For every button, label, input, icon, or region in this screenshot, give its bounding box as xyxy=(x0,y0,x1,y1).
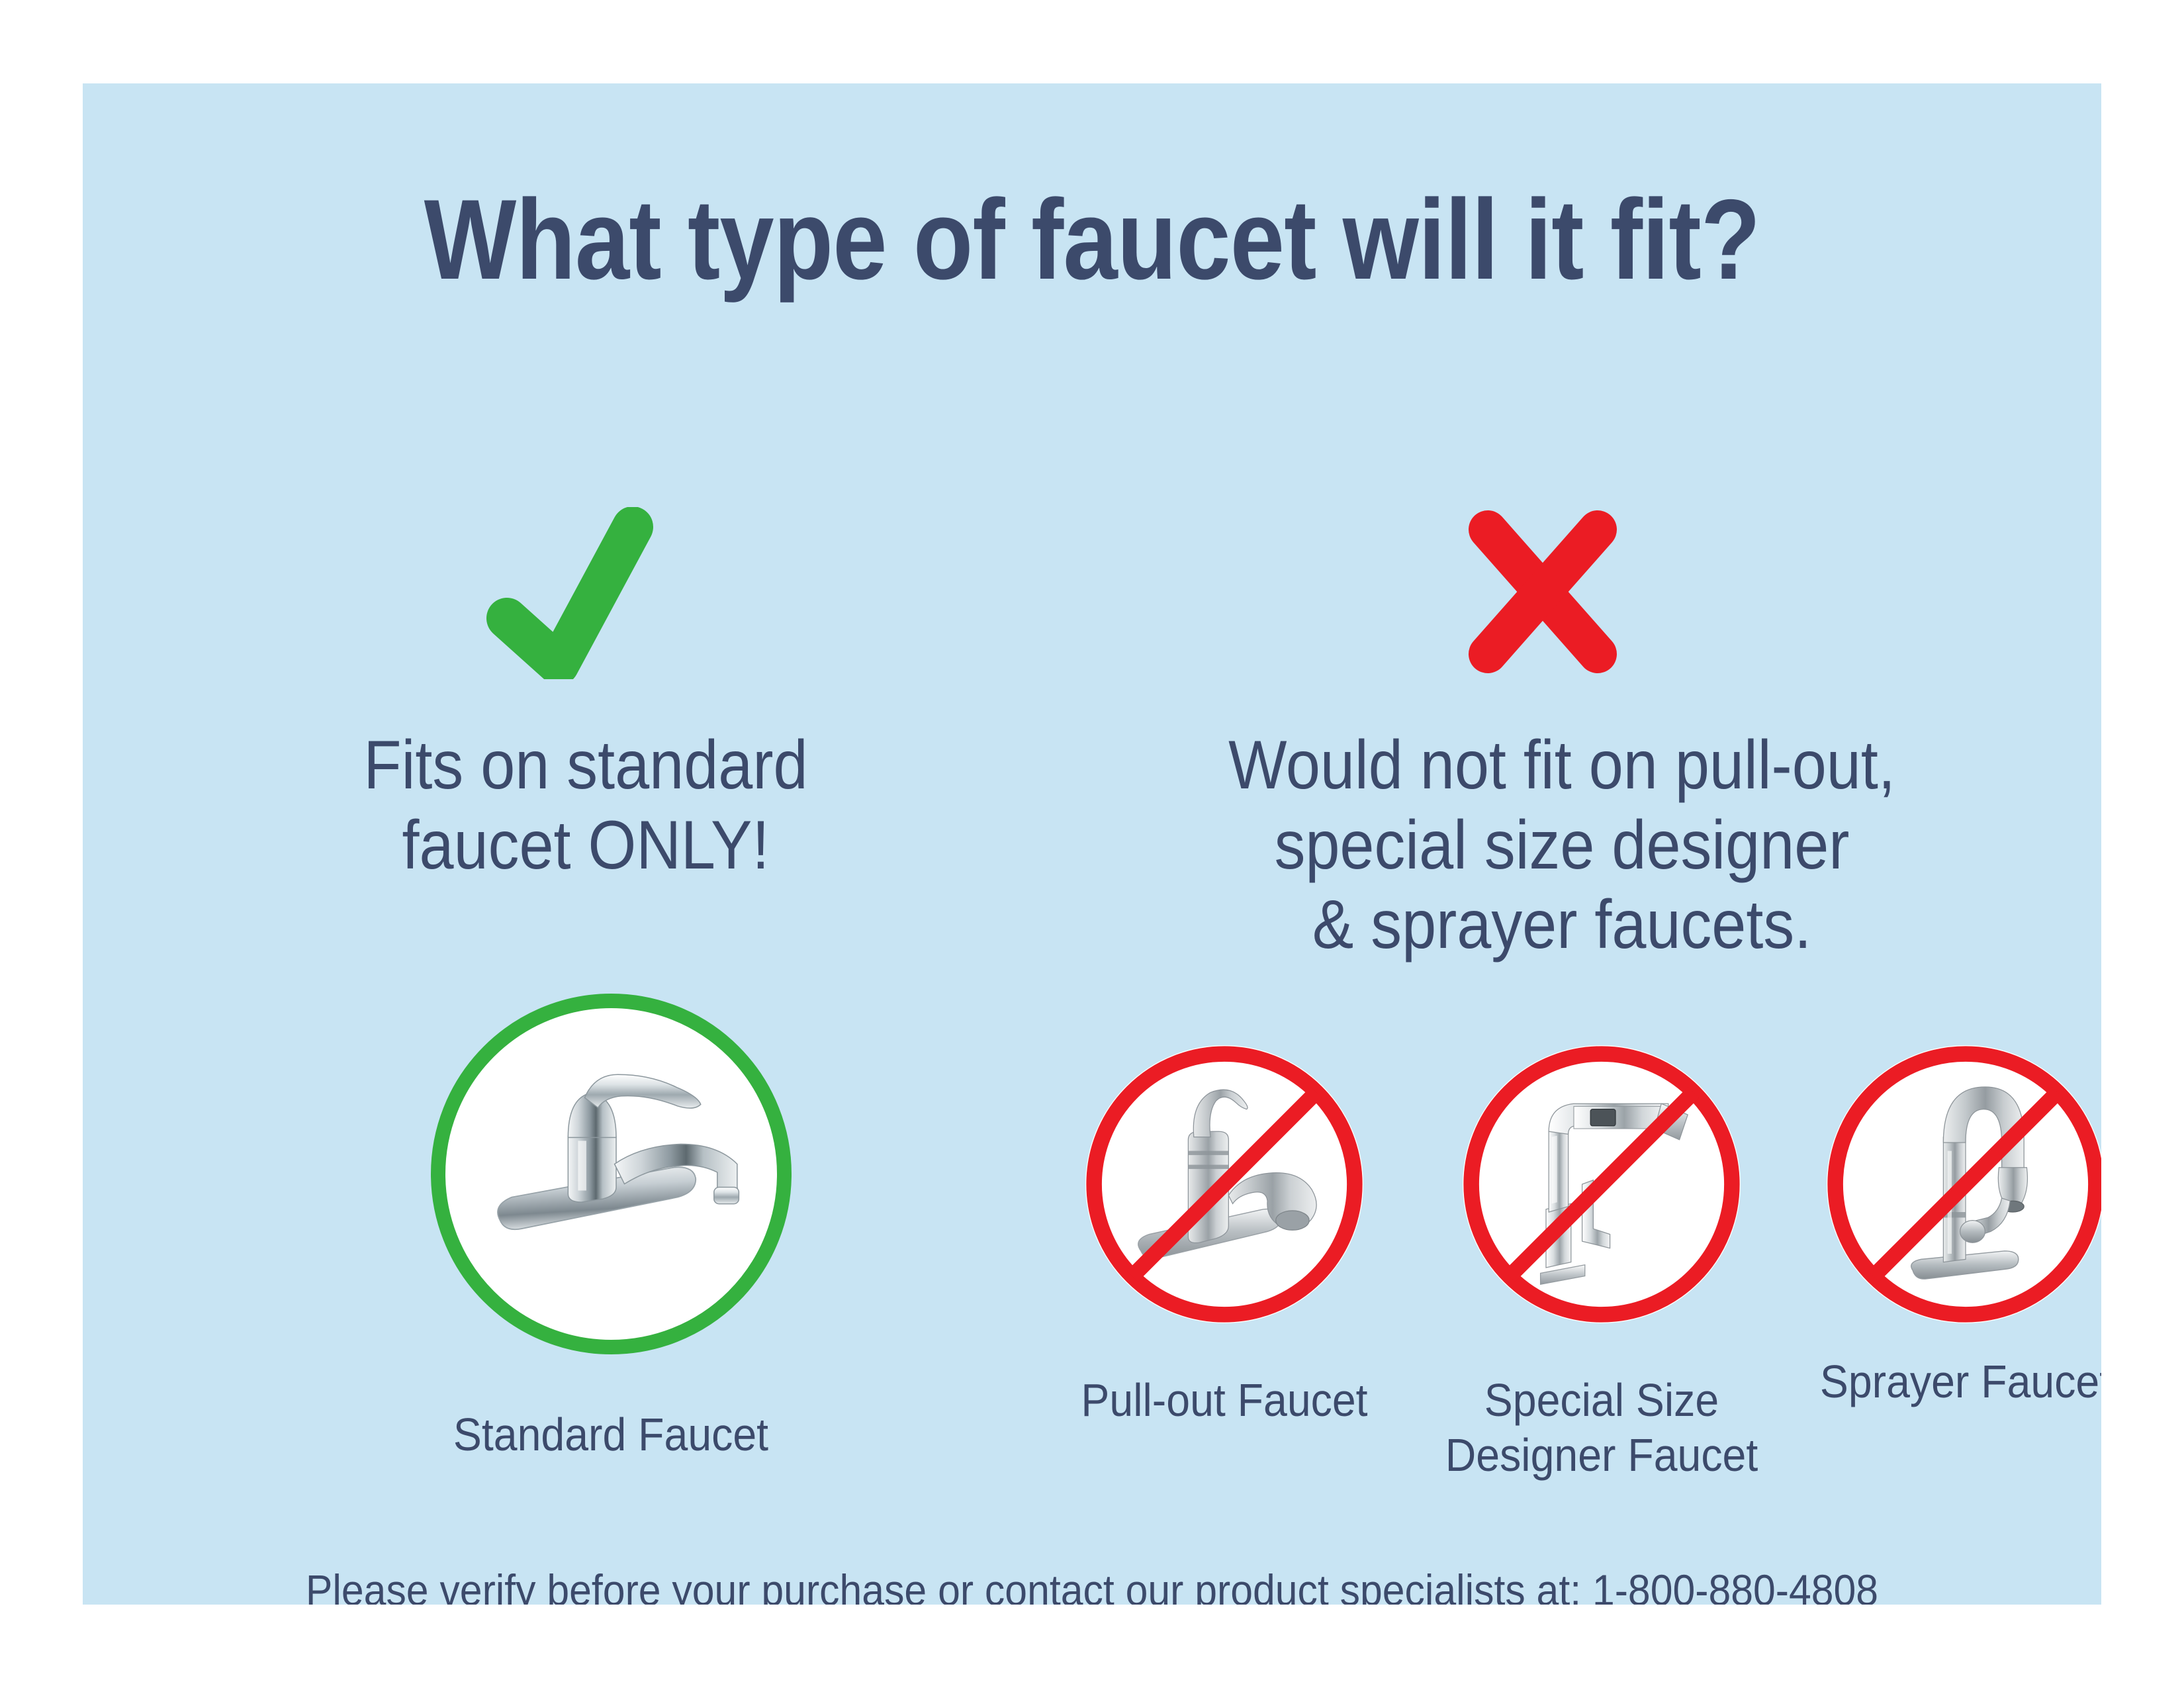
standard-faucet-photo xyxy=(445,1008,777,1340)
product-label-sprayer-line-1: Sprayer Faucet xyxy=(1783,1354,2101,1409)
product-label-designer: Special Size Designer Faucet xyxy=(1419,1373,1784,1482)
fit-caption-line-1: Fits on standard xyxy=(252,726,919,806)
fit-caption: Fits on standard faucet ONLY! xyxy=(252,726,919,885)
x-icon xyxy=(1463,507,1681,679)
product-label-pullout: Pull-out Faucet xyxy=(1042,1373,1407,1428)
product-label-standard: Standard Faucet xyxy=(367,1407,854,1462)
product-label-sprayer: Sprayer Faucet xyxy=(1783,1354,2101,1409)
footer-note: Please verify before your purchase or co… xyxy=(163,1565,2021,1605)
page-title: What type of faucet will it fit? xyxy=(224,183,1960,297)
fit-caption-line-2: faucet ONLY! xyxy=(252,806,919,886)
pullout-faucet-photo xyxy=(1085,1045,1363,1323)
poster-panel: What type of faucet will it fit? Fits on… xyxy=(83,83,2101,1605)
check-icon xyxy=(470,507,735,679)
product-circle-pullout xyxy=(1085,1045,1363,1323)
product-label-pullout-line-1: Pull-out Faucet xyxy=(1042,1373,1407,1428)
product-label-designer-line-2: Designer Faucet xyxy=(1419,1428,1784,1483)
product-label-designer-line-1: Special Size xyxy=(1419,1373,1784,1428)
product-circle-designer xyxy=(1463,1045,1741,1323)
special-size-designer-faucet-photo xyxy=(1463,1045,1741,1323)
not-fit-caption-line-1: Would not fit on pull-out, xyxy=(1160,726,1964,806)
not-fit-caption: Would not fit on pull-out, special size … xyxy=(1160,726,1964,965)
product-label-standard-line-1: Standard Faucet xyxy=(367,1407,854,1462)
not-fit-caption-line-2: special size designer xyxy=(1160,806,1964,886)
not-fit-caption-line-3: & sprayer faucets. xyxy=(1160,885,1964,965)
product-circle-sprayer xyxy=(1827,1045,2101,1323)
sprayer-faucet-photo xyxy=(1827,1045,2101,1323)
product-circle-standard xyxy=(431,994,792,1354)
